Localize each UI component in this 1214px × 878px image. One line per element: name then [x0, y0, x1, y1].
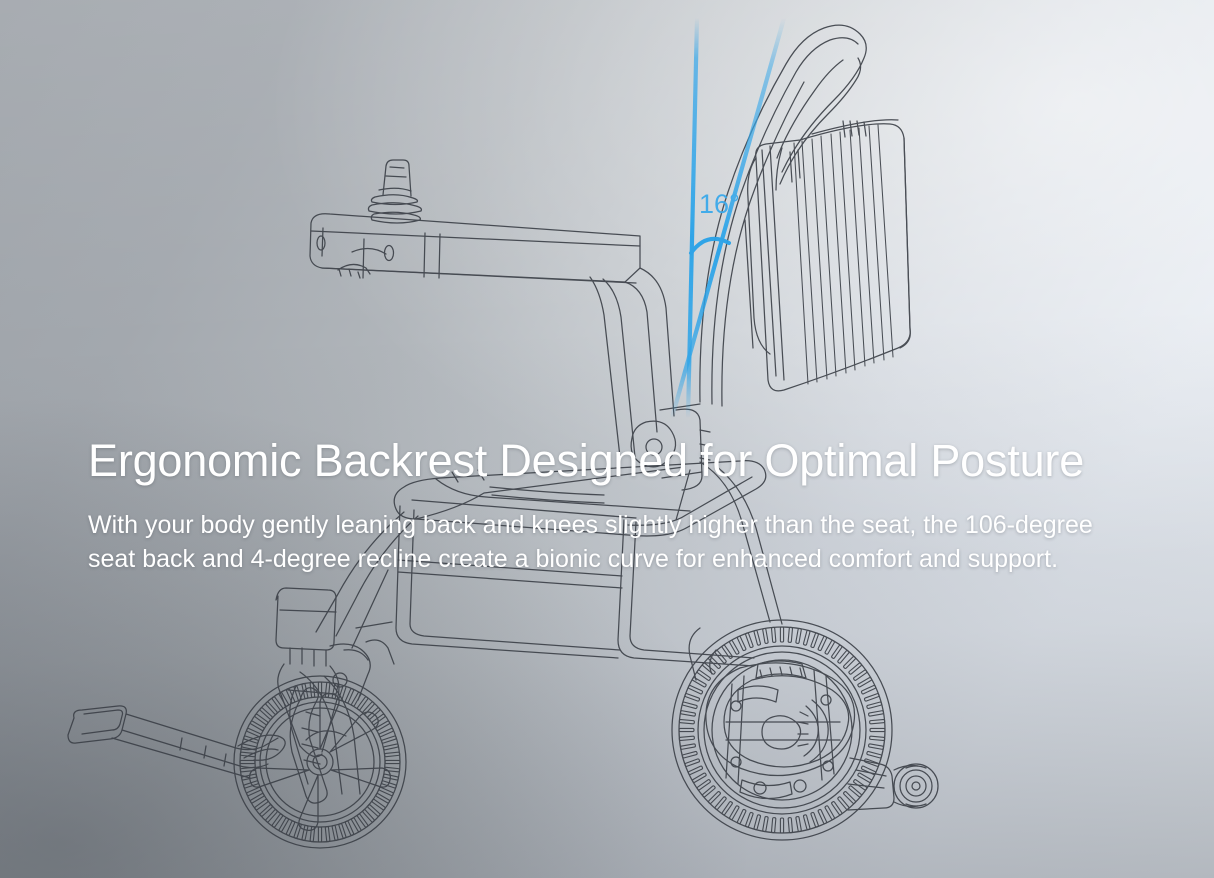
rear-drive-wheel — [672, 620, 894, 840]
front-caster-fork — [276, 588, 394, 794]
hero-description: With your body gently leaning back and k… — [88, 486, 1133, 577]
front-caster-wheel — [234, 676, 406, 848]
page-title: Ergonomic Backrest Designed for Optimal … — [88, 437, 1148, 486]
angle-label: 16° — [699, 189, 740, 219]
anti-tip-roller — [894, 764, 938, 808]
backrest-cushion — [745, 120, 910, 391]
armrest-assembly — [310, 160, 674, 457]
angle-arc — [691, 239, 729, 253]
hero-banner: 16° Ergonomic Backrest Designed for Opti… — [0, 0, 1214, 878]
hero-copy-block: Ergonomic Backrest Designed for Optimal … — [88, 437, 1148, 577]
rear-wheel-tread — [679, 627, 885, 833]
